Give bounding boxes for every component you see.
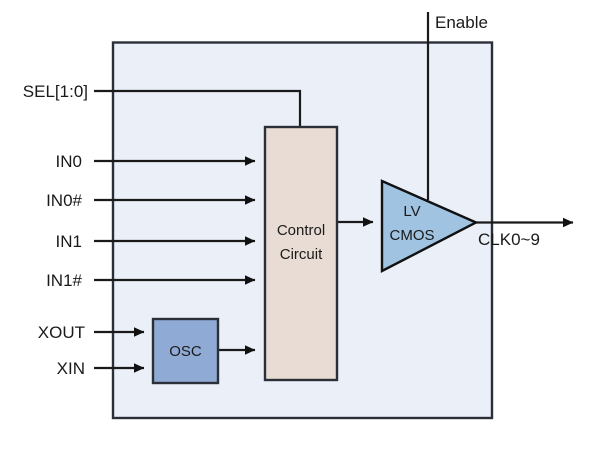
block-diagram: Control Circuit OSC LV CMOS SEL[1:0] IN0… bbox=[0, 0, 602, 450]
pin-label-enable: Enable bbox=[435, 13, 488, 32]
osc-label: OSC bbox=[169, 343, 202, 360]
lv-cmos-label-line2: CMOS bbox=[390, 227, 435, 244]
pin-label-in0n: IN0# bbox=[46, 191, 82, 210]
control-circuit-label-line1: Control bbox=[277, 222, 325, 239]
pin-label-in0: IN0 bbox=[56, 152, 82, 171]
pin-label-xout: XOUT bbox=[38, 323, 85, 342]
pin-label-xin: XIN bbox=[57, 359, 85, 378]
pin-label-clk: CLK0~9 bbox=[478, 230, 540, 249]
pin-label-sel: SEL[1:0] bbox=[23, 82, 88, 101]
pin-label-in1: IN1 bbox=[56, 232, 82, 251]
pin-label-in1n: IN1# bbox=[46, 271, 82, 290]
lv-cmos-label-line1: LV bbox=[403, 203, 420, 220]
control-circuit-label-line2: Circuit bbox=[280, 246, 323, 263]
diagram-canvas: Control Circuit OSC LV CMOS SEL[1:0] IN0… bbox=[0, 0, 602, 450]
